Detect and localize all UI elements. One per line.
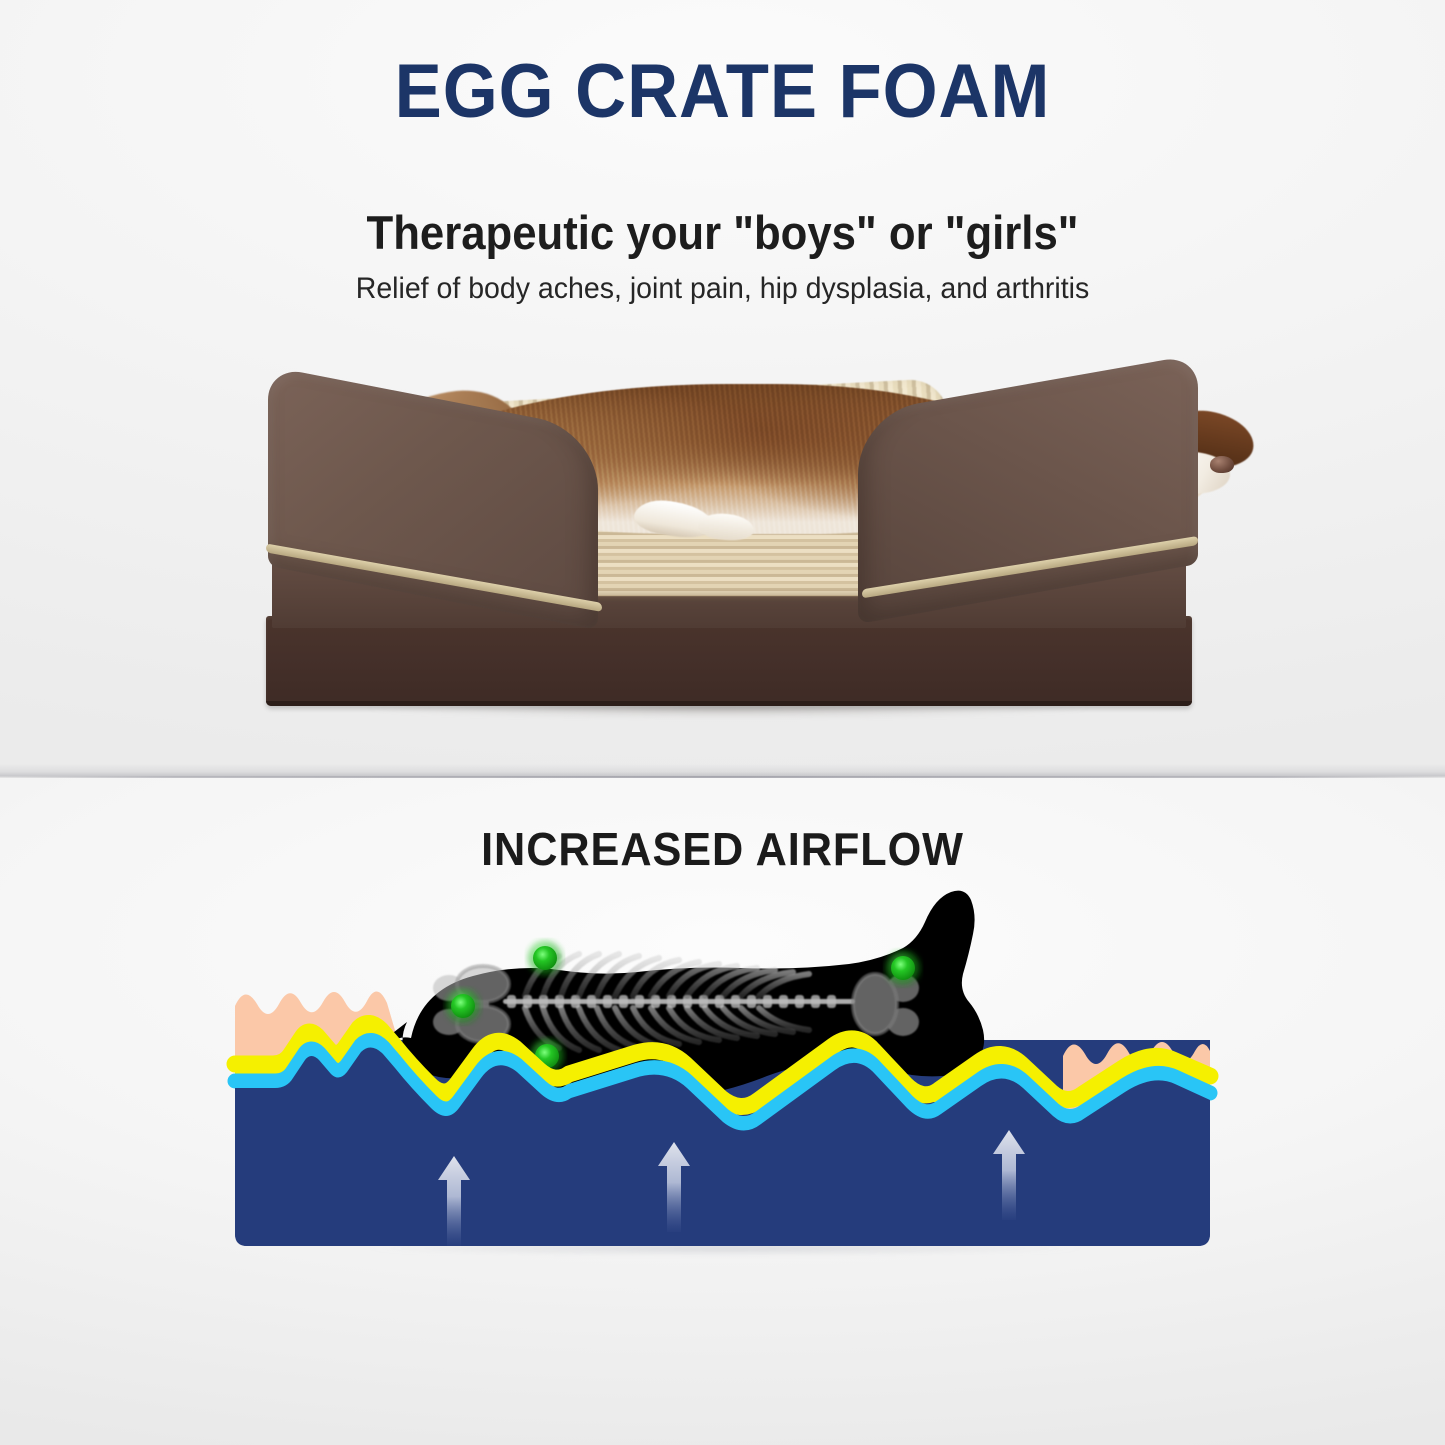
section-title-airflow: INCREASED AIRFLOW (43, 822, 1401, 876)
page-title: EGG CRATE FOAM (51, 48, 1395, 135)
bed-foam-base (266, 616, 1192, 706)
product-photo-dog-bed (258, 378, 1198, 728)
airflow-cross-section-diagram (235, 888, 1210, 1248)
product-infographic-page: EGG CRATE FOAM Therapeutic your "boys" o… (0, 0, 1445, 1445)
description-text: Relief of body aches, joint pain, hip dy… (36, 272, 1409, 306)
subtitle: Therapeutic your "boys" or "girls" (51, 205, 1395, 260)
dog-nose (1210, 456, 1234, 473)
